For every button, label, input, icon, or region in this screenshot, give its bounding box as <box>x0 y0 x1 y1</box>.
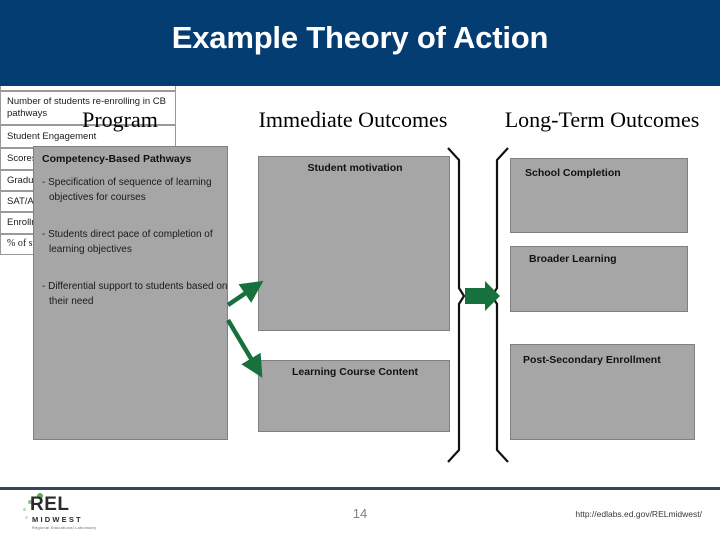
logo-primary-text: REL <box>30 494 70 516</box>
panel-title: Learning Course Content <box>259 366 451 378</box>
page-title: Example Theory of Action <box>0 20 720 56</box>
arrow-immediate-to-long-term <box>465 281 500 311</box>
brace-immediate-outcomes <box>448 148 464 462</box>
program-panel: Competency-Based Pathways - Specificatio… <box>33 146 228 440</box>
panel-title: Student motivation <box>259 162 451 174</box>
program-bullet-item: - Specification of sequence of learning … <box>42 176 229 205</box>
program-bullet-item: - Students direct pace of completion of … <box>42 228 229 257</box>
footer-url: http://edlabs.ed.gov/RELmidwest/ <box>575 509 702 519</box>
brace-long-term-outcomes <box>492 148 508 462</box>
logo-secondary-text: MIDWEST <box>32 515 83 524</box>
learning-course-content-panel: Learning Course Content <box>258 360 450 432</box>
slide-title-bar: Example Theory of Action <box>0 0 720 86</box>
page-number: 14 <box>330 506 390 521</box>
school-completion-panel: School Completion <box>510 158 688 233</box>
logo-tagline: Regional Educational Laboratory <box>32 525 96 530</box>
logo-dot <box>25 516 28 519</box>
panel-title: School Completion <box>511 167 689 179</box>
column-heading-immediate-outcomes: Immediate Outcomes <box>243 107 463 133</box>
footer-divider <box>0 487 720 490</box>
logo-dot <box>23 508 26 511</box>
panel-title: Post-Secondary Enrollment <box>511 354 696 366</box>
broader-learning-panel: Broader Learning <box>510 246 688 312</box>
column-heading-program: Program <box>40 107 200 133</box>
student-motivation-panel: Student motivation <box>258 156 450 331</box>
program-panel-title: Competency-Based Pathways <box>42 153 222 165</box>
panel-title: Broader Learning <box>511 253 689 265</box>
column-heading-long-term-outcomes: Long-Term Outcomes <box>487 107 717 133</box>
post-secondary-enrollment-panel: Post-Secondary Enrollment <box>510 344 695 440</box>
arrow-program-to-learning <box>228 320 256 367</box>
program-bullet-item: - Differential support to students based… <box>42 280 229 309</box>
arrow-program-to-motivation <box>228 288 253 305</box>
